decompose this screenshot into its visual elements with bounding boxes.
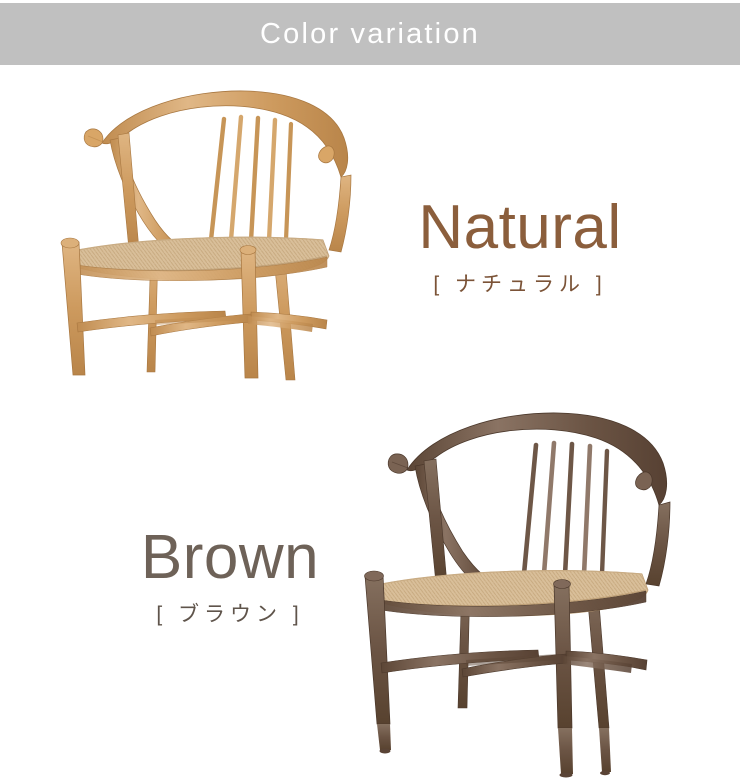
color-name-natural: Natural bbox=[380, 196, 660, 260]
color-name-brown: Brown bbox=[85, 526, 375, 590]
section-header-band: Color variation bbox=[0, 3, 740, 65]
color-variation-page: Color variation bbox=[0, 0, 740, 780]
variation-brown: Brown [ ブラウン ] bbox=[0, 398, 740, 780]
chair-image-brown bbox=[358, 398, 688, 776]
chair-image-natural bbox=[55, 80, 375, 400]
variation-natural: Natural [ ナチュラル ] bbox=[0, 68, 740, 398]
label-group-brown: Brown [ ブラウン ] bbox=[85, 526, 375, 625]
page-title: Color variation bbox=[260, 20, 480, 49]
color-name-jp-brown: [ ブラウン ] bbox=[85, 604, 375, 625]
label-group-natural: Natural [ ナチュラル ] bbox=[380, 196, 660, 295]
color-name-jp-natural: [ ナチュラル ] bbox=[380, 274, 660, 295]
